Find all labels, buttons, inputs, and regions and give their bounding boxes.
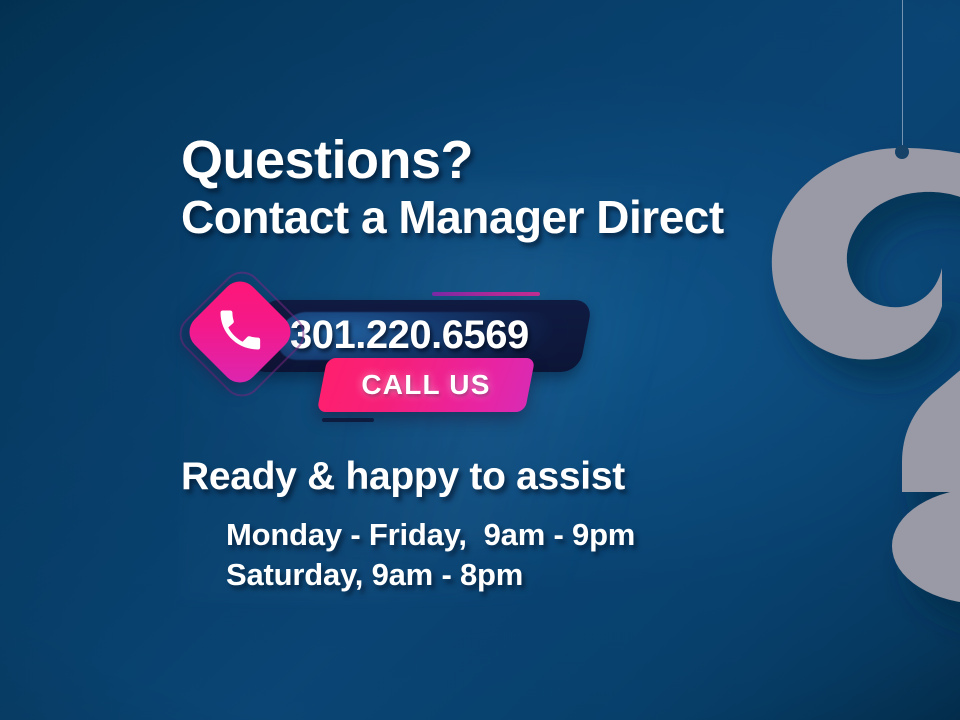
hours-line-weekday: Monday - Friday, 9am - 9pm: [226, 515, 635, 555]
availability-heading: Ready & happy to assist: [181, 455, 625, 499]
hanging-string: [902, 0, 903, 150]
headline-line-2: Contact a Manager Direct: [181, 190, 724, 244]
call-badge[interactable]: 301.220.6569 CALL US: [186, 276, 606, 436]
call-us-button-label[interactable]: CALL US: [322, 358, 530, 412]
phone-number[interactable]: 301.220.6569: [290, 306, 590, 364]
accent-line-top: [432, 292, 540, 296]
question-mark-decoration: [736, 0, 960, 720]
availability-hours: Monday - Friday, 9am - 9pm Saturday, 9am…: [226, 515, 635, 595]
hours-line-saturday: Saturday, 9am - 8pm: [226, 555, 635, 595]
headline-line-1: Questions?: [181, 130, 724, 190]
page-title: Questions? Contact a Manager Direct: [181, 130, 724, 244]
accent-line-bottom: [322, 418, 374, 422]
contact-banner: Questions? Contact a Manager Direct 301.…: [0, 0, 960, 720]
question-mark-icon: [736, 0, 960, 720]
phone-handset-icon: [214, 304, 266, 356]
